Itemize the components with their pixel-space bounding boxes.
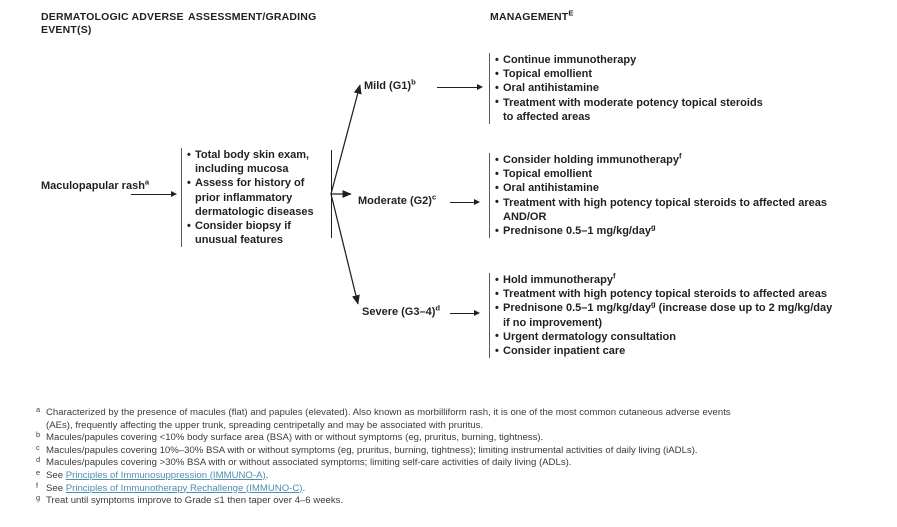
footnote-g: gTreat until symptoms improve to Grade ≤…: [36, 495, 881, 508]
column-header-management: MANAGEMENTe: [490, 11, 750, 24]
footnote-c-text: Macules/papules covering 10%–30% BSA wit…: [46, 445, 698, 456]
footnote-b-marker: b: [36, 429, 40, 442]
management-mild-item-2: Oral antihistamine: [495, 81, 885, 95]
assessment-list: Total body skin exam,including mucosa As…: [187, 148, 335, 247]
footnote-ref-g: g: [651, 222, 656, 231]
management-mild-item-3-cont: to affected areas: [503, 110, 885, 124]
assessment-item-2-text: Consider biopsy if: [195, 220, 291, 232]
management-mild-item-0: Continue immunotherapy: [495, 53, 885, 67]
footnote-g-text: Treat until symptoms improve to Grade ≤1…: [46, 495, 343, 506]
footnote-c-marker: c: [36, 442, 40, 455]
management-mild-item-1-text: Topical emollient: [503, 68, 592, 80]
management-moderate-item-3: Treatment with high potency topical ster…: [495, 196, 885, 224]
management-severe-item-3-text: Urgent dermatology consultation: [503, 331, 676, 343]
management-severe-item-2-text: Prednisone 0.5–1 mg/kg/day: [503, 302, 651, 314]
management-box-moderate: Consider holding immunotherapyf Topical …: [489, 153, 885, 238]
assessment-grading-box: Total body skin exam,including mucosa As…: [181, 148, 335, 247]
footnote-f-suffix: .: [302, 483, 305, 494]
footnote-d-marker: d: [36, 454, 40, 467]
assessment-item-1: Assess for history ofprior inflammatoryd…: [187, 176, 335, 219]
footnote-f-marker: f: [36, 480, 38, 493]
management-mild-item-1: Topical emollient: [495, 67, 885, 81]
assessment-item-1-text: Assess for history of: [195, 177, 304, 189]
management-moderate-list: Consider holding immunotherapyf Topical …: [495, 153, 885, 238]
management-severe-item-4: Consider inpatient care: [495, 344, 885, 358]
management-severe-item-0: Hold immunotherapyf: [495, 273, 885, 287]
link-principles-of-immunosuppression[interactable]: Principles of Immunosuppression (IMMUNO-…: [66, 470, 266, 481]
column-header-assessment: ASSESSMENT/GRADING: [188, 11, 408, 24]
assessment-item-1-cont: prior inflammatory: [195, 191, 335, 205]
management-moderate-item-3-text: Treatment with high potency topical ster…: [503, 197, 827, 209]
assessment-item-0-text: Total body skin exam,: [195, 149, 309, 161]
management-moderate-item-4: Prednisone 0.5–1 mg/kg/dayg: [495, 224, 885, 238]
arrowhead-mild-to-management: [477, 84, 483, 90]
management-mild-list: Continue immunotherapy Topical emollient…: [495, 53, 885, 124]
assessment-item-1-cont2: dermatologic diseases: [195, 205, 335, 219]
branch-spine: [331, 150, 332, 238]
column-header-adverse-event: DERMATOLOGIC ADVERSE EVENT(S): [41, 11, 191, 37]
management-moderate-item-0: Consider holding immunotherapyf: [495, 153, 885, 167]
connector-entry-to-assessment: [131, 194, 174, 195]
connector-to-severe: [331, 194, 358, 304]
management-mild-item-2-text: Oral antihistamine: [503, 82, 599, 94]
management-box-severe: Hold immunotherapyf Treatment with high …: [489, 273, 885, 358]
management-severe-item-2: Prednisone 0.5–1 mg/kg/dayg (increase do…: [495, 301, 885, 329]
entry-node-label: Maculopapular rash: [41, 180, 145, 192]
connector-mild-to-management: [437, 87, 480, 88]
management-severe-item-2-after: (increase dose up to 2 mg/kg/day: [656, 302, 833, 314]
footnote-a-cont: (AEs), frequently affecting the upper tr…: [46, 420, 881, 433]
link-principles-of-immunotherapy-rechallenge[interactable]: Principles of Immunotherapy Rechallenge …: [66, 483, 303, 494]
grade-label-severe: Severe (G3–4)d: [362, 306, 440, 319]
management-moderate-item-1-text: Topical emollient: [503, 168, 592, 180]
footnote-ref-b: b: [411, 77, 416, 86]
management-severe-item-1: Treatment with high potency topical ster…: [495, 287, 885, 301]
management-severe-item-1-text: Treatment with high potency topical ster…: [503, 288, 827, 300]
assessment-item-0-cont: including mucosa: [195, 162, 335, 176]
footnote-b-text: Macules/papules covering <10% body surfa…: [46, 432, 543, 443]
management-moderate-item-4-text: Prednisone 0.5–1 mg/kg/day: [503, 225, 651, 237]
management-severe-item-3: Urgent dermatology consultation: [495, 330, 885, 344]
footnote-ref-f: f: [679, 151, 682, 160]
management-moderate-item-2: Oral antihistamine: [495, 181, 885, 195]
management-severe-item-0-text: Hold immunotherapy: [503, 274, 613, 286]
column-header-management-text: MANAGEMENT: [490, 11, 568, 23]
assessment-item-2: Consider biopsy ifunusual features: [187, 219, 335, 247]
grade-label-mild-text: Mild (G1): [364, 80, 411, 92]
management-box-mild: Continue immunotherapy Topical emollient…: [489, 53, 885, 124]
footnote-ref-c: c: [432, 192, 436, 201]
arrowhead-severe-to-management: [474, 310, 480, 316]
footnote-ref-a: a: [145, 177, 149, 186]
management-mild-item-3: Treatment with moderate potency topical …: [495, 96, 885, 124]
footnote-e-suffix: .: [266, 470, 269, 481]
footnote-f: fSee Principles of Immunotherapy Rechall…: [36, 483, 881, 496]
management-moderate-item-2-text: Oral antihistamine: [503, 182, 599, 194]
footnote-b: bMacules/papules covering <10% body surf…: [36, 432, 881, 445]
footnote-e-marker: e: [36, 467, 40, 480]
footnotes-section: aCharacterized by the presence of macule…: [36, 407, 881, 508]
grade-label-mild: Mild (G1)b: [364, 80, 416, 93]
management-moderate-item-0-text: Consider holding immunotherapy: [503, 154, 679, 166]
footnote-a-marker: a: [36, 404, 40, 417]
assessment-item-0: Total body skin exam,including mucosa: [187, 148, 335, 176]
grade-label-moderate: Moderate (G2)c: [358, 195, 436, 208]
management-severe-item-2-cont: if no improvement): [503, 316, 885, 330]
entry-node-maculopapular-rash: Maculopapular rasha: [41, 180, 171, 194]
connector-to-mild: [331, 85, 360, 194]
management-severe-item-4-text: Consider inpatient care: [503, 345, 625, 357]
footnote-g-marker: g: [36, 492, 40, 505]
management-mild-item-0-text: Continue immunotherapy: [503, 54, 636, 66]
arrowhead-moderate-to-management: [474, 199, 480, 205]
footnote-d-text: Macules/papules covering >30% BSA with o…: [46, 457, 571, 468]
footnote-e-prefix: See: [46, 470, 66, 481]
management-moderate-item-3-cont: AND/OR: [503, 210, 885, 224]
management-moderate-item-1: Topical emollient: [495, 167, 885, 181]
arrowhead-entry-to-assessment: [171, 191, 177, 197]
footnote-c: cMacules/papules covering 10%–30% BSA wi…: [36, 445, 881, 458]
management-mild-item-3-text: Treatment with moderate potency topical …: [503, 97, 763, 109]
footnote-ref-d: d: [435, 303, 440, 312]
footnote-ref-f2: f: [613, 271, 616, 280]
management-severe-list: Hold immunotherapyf Treatment with high …: [495, 273, 885, 358]
footnote-ref-e: e: [568, 9, 573, 18]
footnote-e: eSee Principles of Immunosuppression (IM…: [36, 470, 881, 483]
footnote-f-prefix: See: [46, 483, 66, 494]
footnote-a-text: Characterized by the presence of macules…: [46, 407, 731, 418]
grade-label-severe-text: Severe (G3–4): [362, 306, 435, 318]
grade-label-moderate-text: Moderate (G2): [358, 195, 432, 207]
footnote-d: dMacules/papules covering >30% BSA with …: [36, 457, 881, 470]
assessment-item-2-cont: unusual features: [195, 233, 335, 247]
footnote-a: aCharacterized by the presence of macule…: [36, 407, 881, 432]
